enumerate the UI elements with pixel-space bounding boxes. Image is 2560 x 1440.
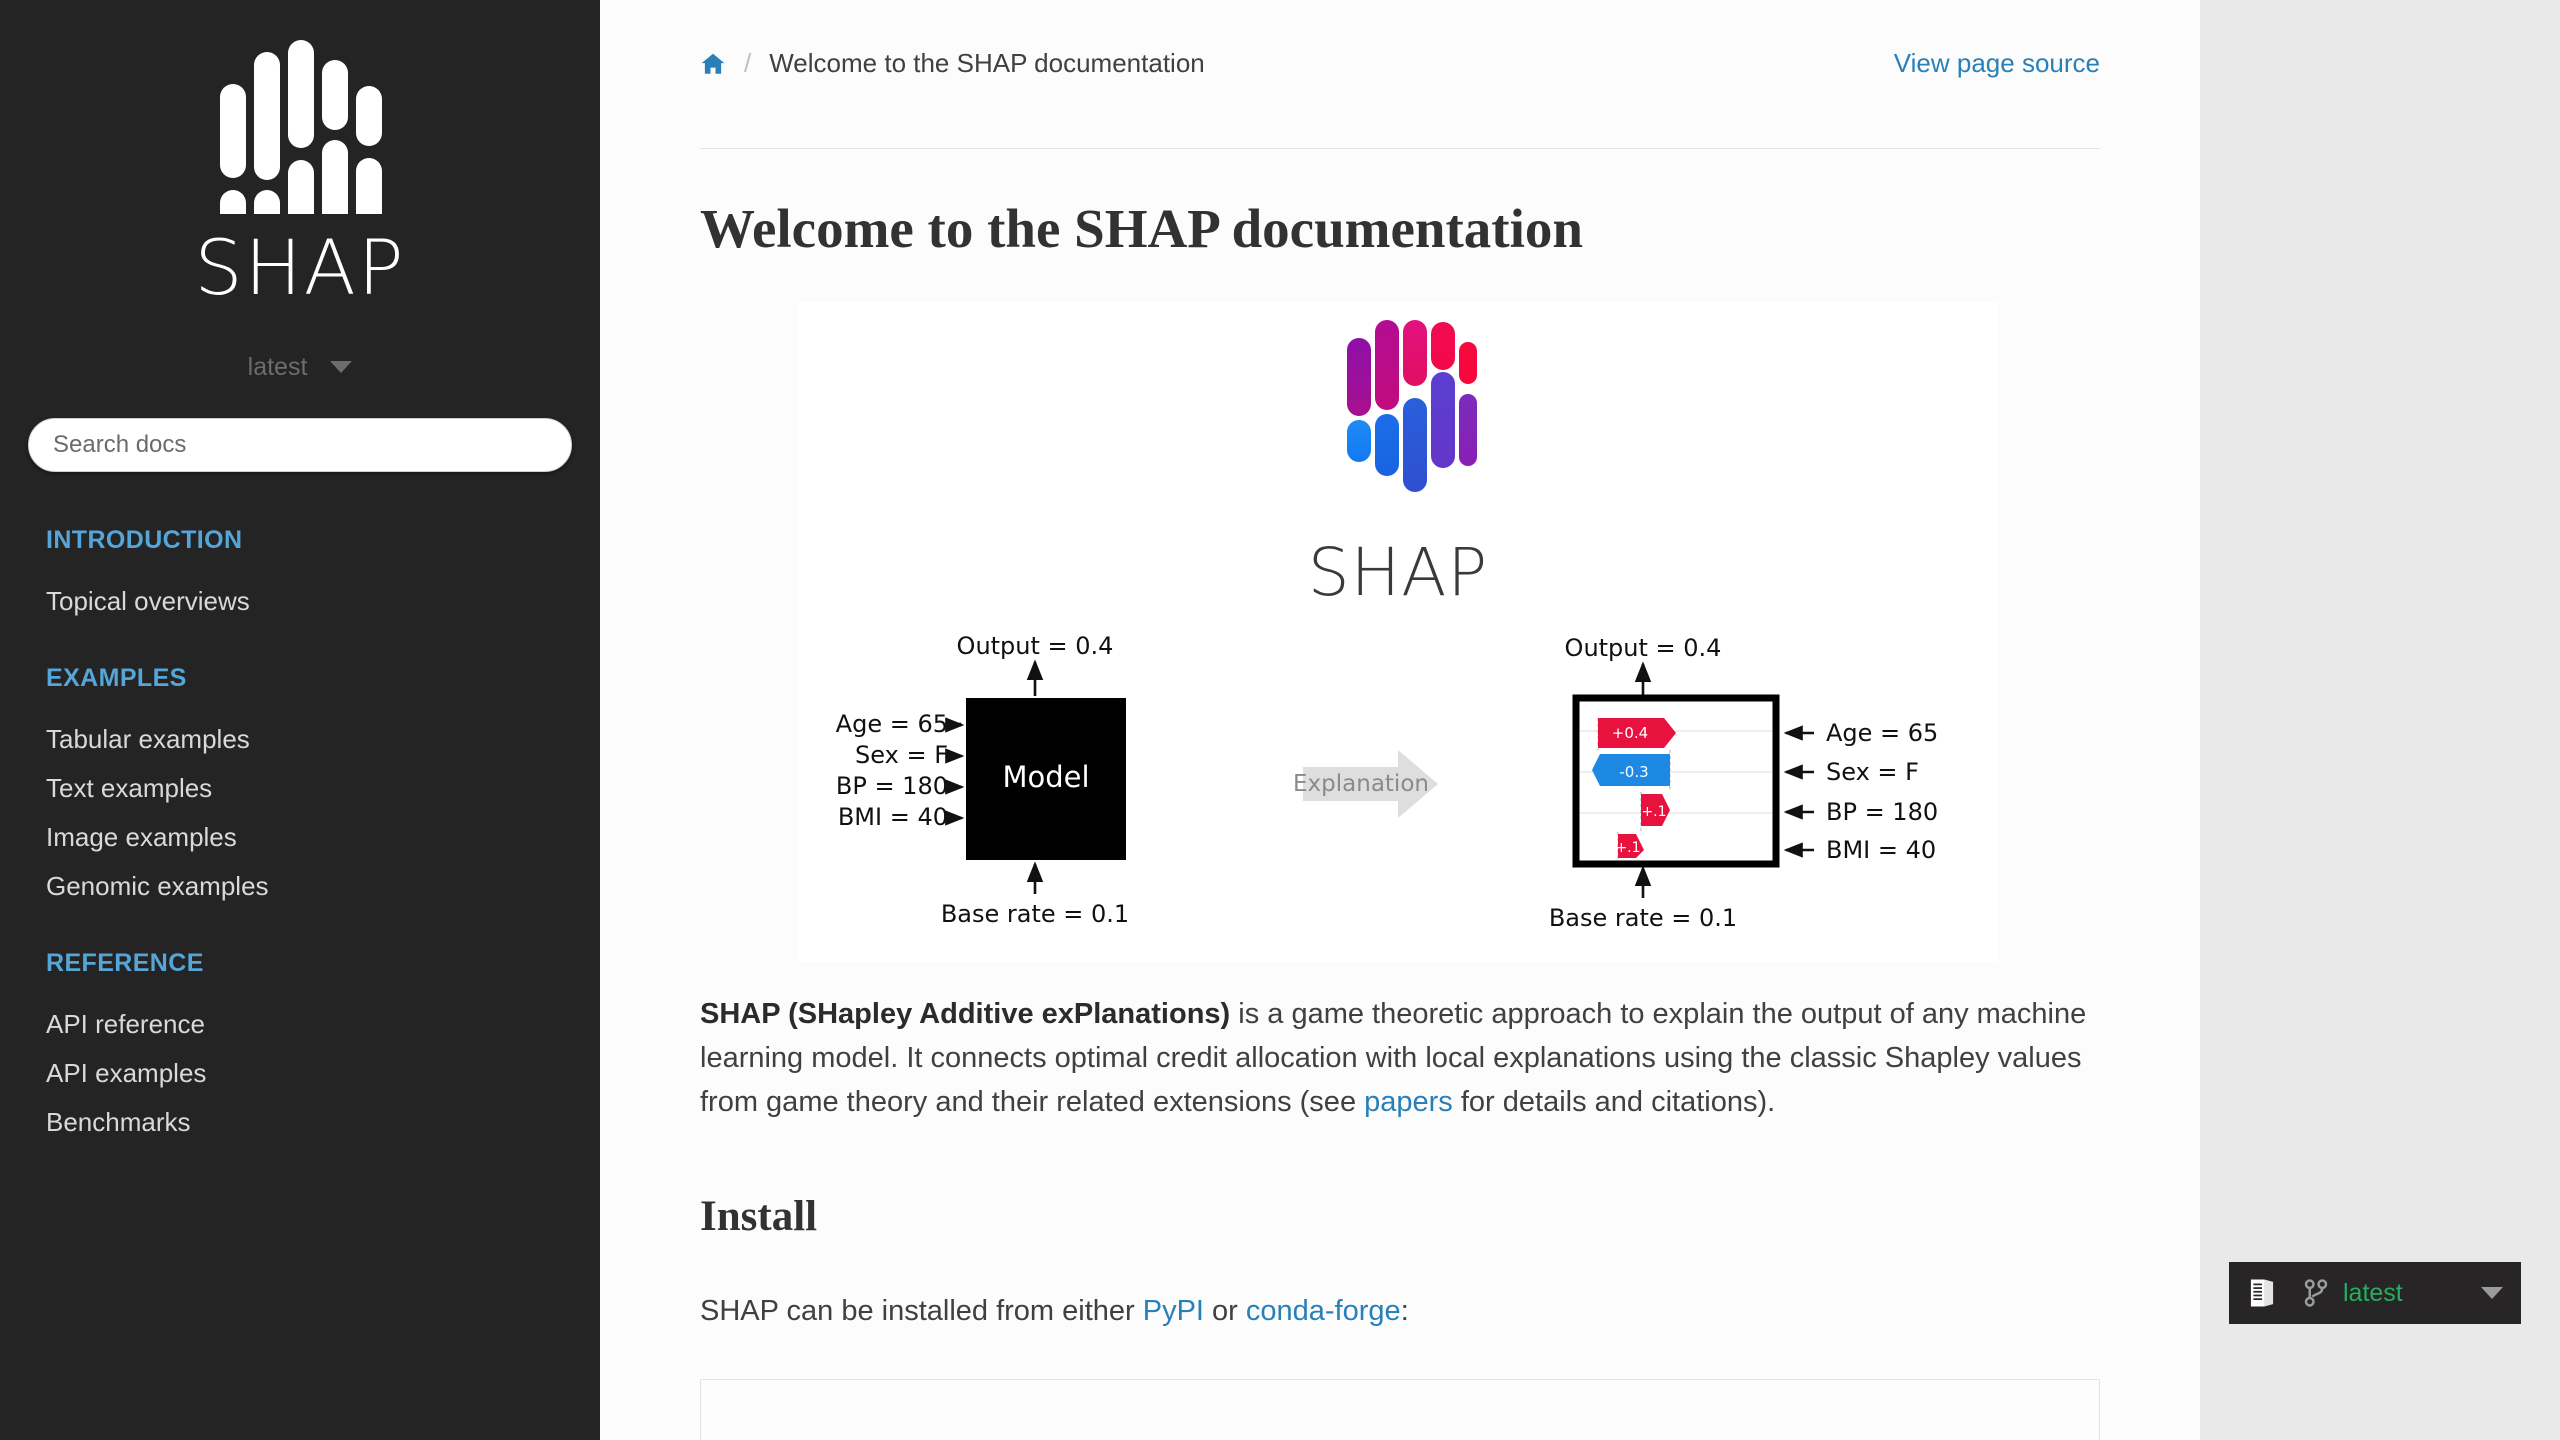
right-feature-2: BP = 180 [1826,798,1938,826]
left-input-0: Age = 65 [836,710,948,738]
left-base-rate-label: Base rate = 0.1 [941,900,1129,928]
version-switcher-label: latest [248,353,308,381]
search-container [0,418,600,472]
content-header: / Welcome to the SHAP documentation View… [600,0,2200,148]
header-divider [700,148,2100,149]
search-input[interactable] [28,418,572,472]
explanation-arrow-label: Explanation [1293,771,1429,797]
sidebar-item-api-reference[interactable]: API reference [0,1000,600,1049]
intro-part2: for details and citations). [1453,1086,1775,1118]
explanation-arrow: Explanation [1293,750,1438,818]
main-content: / Welcome to the SHAP documentation View… [600,0,2200,1440]
book-icon [2247,1277,2277,1309]
install-text-mid: or [1204,1295,1246,1327]
chevron-down-icon [2481,1287,2503,1299]
nav-group-introduction: INTRODUCTION Topical overviews [0,526,600,626]
model-box-label: Model [1002,760,1089,794]
force-bar-3-label: +.1 [1615,840,1640,856]
rtd-version-label: latest [2343,1279,2403,1308]
nav-caption-introduction: INTRODUCTION [0,526,600,555]
model-explanation-diagram: Output = 0.4 Model Age = 65 Sex = F BP =… [798,632,1998,962]
page-title: Welcome to the SHAP documentation [700,197,2100,260]
pypi-link[interactable]: PyPI [1143,1295,1204,1327]
code-block [700,1379,2100,1440]
force-bar-0-label: +0.4 [1612,724,1648,742]
breadcrumb: / Welcome to the SHAP documentation [700,48,1205,79]
right-output-label: Output = 0.4 [1565,634,1722,662]
install-heading: Install [700,1192,2100,1241]
left-input-2: BP = 180 [836,772,948,800]
nav-group-examples: EXAMPLES Tabular examples Text examples … [0,664,600,911]
install-paragraph: SHAP can be installed from either PyPI o… [700,1289,2100,1333]
nav-caption-reference: REFERENCE [0,949,600,978]
git-branch-icon [2303,1278,2329,1308]
force-bar-2-label: +.1 [1641,804,1666,820]
papers-link[interactable]: papers [1364,1086,1453,1118]
right-feature-1: Sex = F [1826,758,1919,786]
breadcrumb-separator: / [744,48,751,79]
right-feature-3: BMI = 40 [1826,836,1936,864]
force-bar-1-label: -0.3 [1619,763,1648,781]
article: Welcome to the SHAP documentation [600,197,2200,1440]
right-feature-0: Age = 65 [1826,719,1938,747]
view-page-source-link[interactable]: View page source [1894,48,2100,79]
sidebar-item-benchmarks[interactable]: Benchmarks [0,1098,600,1147]
hero-figure: SHAP Output = 0.4 Model Age = 65 [798,302,1998,962]
home-icon[interactable] [700,51,726,77]
nav-caption-examples: EXAMPLES [0,664,600,693]
shap-logo-icon [218,38,382,214]
shap-logo-color-icon [1319,320,1477,492]
install-text-post: : [1401,1295,1409,1327]
rtd-version-badge[interactable]: latest [2229,1262,2521,1324]
sidebar-logo-block[interactable]: SHAP [0,0,600,306]
sidebar-item-text-examples[interactable]: Text examples [0,764,600,813]
install-text-pre: SHAP can be installed from either [700,1295,1143,1327]
left-output-label: Output = 0.4 [957,632,1114,660]
breadcrumb-current: Welcome to the SHAP documentation [769,48,1205,79]
sidebar-item-topical-overviews[interactable]: Topical overviews [0,577,600,626]
intro-bold-lead: SHAP (SHapley Additive exPlanations) [700,998,1230,1030]
sidebar-item-image-examples[interactable]: Image examples [0,813,600,862]
hero-brand: SHAP [798,534,1998,611]
sidebar-item-api-examples[interactable]: API examples [0,1049,600,1098]
left-input-1: Sex = F [855,741,948,769]
sidebar-item-tabular-examples[interactable]: Tabular examples [0,715,600,764]
sidebar-item-genomic-examples[interactable]: Genomic examples [0,862,600,911]
right-base-rate-label: Base rate = 0.1 [1549,904,1737,932]
intro-paragraph: SHAP (SHapley Additive exPlanations) is … [700,992,2100,1124]
version-switcher[interactable]: latest [0,352,600,382]
sidebar-brand: SHAP [0,230,600,306]
sidebar-nav: INTRODUCTION Topical overviews EXAMPLES … [0,526,600,1147]
nav-group-reference: REFERENCE API reference API examples Ben… [0,949,600,1147]
sidebar: SHAP latest INTRODUCTION Topical overvie… [0,0,600,1440]
chevron-down-icon [330,361,352,373]
left-input-3: BMI = 40 [838,803,948,831]
conda-forge-link[interactable]: conda-forge [1246,1295,1401,1327]
